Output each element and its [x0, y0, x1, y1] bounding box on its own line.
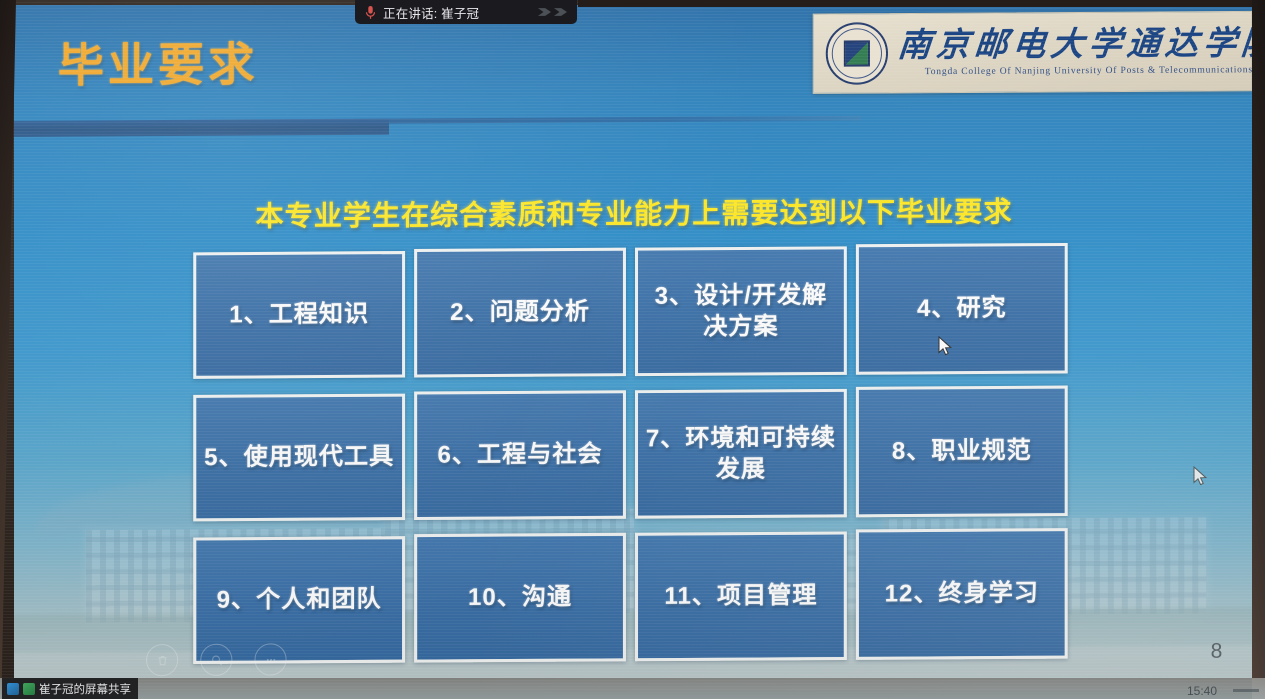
zoom-active-speaker-bar[interactable]: 正在讲话: 崔子冠	[355, 0, 577, 24]
slide-overlay-toolbar	[146, 643, 287, 676]
title-rule-thick	[14, 119, 389, 137]
school-seal-icon	[826, 22, 888, 85]
taskbar-clock[interactable]: 15:40	[1187, 684, 1217, 698]
requirement-label: 9、个人和团队	[210, 584, 389, 617]
requirement-box-11: 11、项目管理	[635, 531, 847, 661]
requirement-label: 7、环境和可持续发展	[638, 422, 844, 486]
slide-subtitle: 本专业学生在综合素质和专业能力上需要达到以下毕业要求	[14, 189, 1254, 237]
title-rule-thin	[389, 116, 861, 124]
share-icon	[23, 683, 35, 695]
monitor-bezel-right	[1252, 0, 1265, 699]
monitor-bezel-top	[578, 0, 1265, 7]
app-icon-zoom	[7, 683, 19, 695]
photographed-screen: 毕业要求 南京邮电大学通达学院 Tongda College Of Nanjin…	[0, 0, 1265, 699]
slide-page-number: 8	[1211, 640, 1223, 664]
requirement-box-12: 12、终身学习	[856, 528, 1068, 660]
requirement-label: 8、职业规范	[885, 435, 1039, 468]
requirement-box-10: 10、沟通	[414, 533, 626, 663]
monitor-bezel-bottom	[0, 690, 1265, 699]
windows-taskbar: 崔子冠的屏幕共享 15:40	[0, 677, 1265, 699]
slide-title: 毕业要求	[58, 40, 259, 90]
requirement-label: 1、工程知识	[222, 299, 376, 332]
requirement-box-5: 5、使用现代工具	[193, 394, 405, 522]
requirement-box-7: 7、环境和可持续发展	[635, 389, 847, 519]
requirement-label: 2、问题分析	[443, 296, 597, 329]
presentation-slide: 毕业要求 南京邮电大学通达学院 Tongda College Of Nanjin…	[14, 5, 1254, 678]
requirement-box-3: 3、设计/开发解决方案	[635, 246, 847, 376]
microphone-icon	[365, 5, 376, 20]
requirement-label: 6、工程与社会	[431, 439, 610, 472]
requirement-label: 5、使用现代工具	[197, 441, 401, 474]
requirement-box-4: 4、研究	[856, 243, 1068, 375]
taskbar-item-screen-share[interactable]: 崔子冠的屏幕共享	[2, 678, 138, 699]
requirement-label: 11、项目管理	[657, 580, 824, 613]
requirement-label: 3、设计/开发解决方案	[638, 279, 844, 343]
show-desktop-button[interactable]	[1233, 689, 1259, 692]
requirement-label: 4、研究	[910, 293, 1014, 325]
more-options-icon[interactable]	[254, 643, 286, 675]
taskbar-item-label: 崔子冠的屏幕共享	[39, 681, 131, 697]
active-speaker-label: 正在讲话: 崔子冠	[383, 3, 479, 22]
requirements-grid: 1、工程知识 2、问题分析 3、设计/开发解决方案 4、研究 5、使用现代工具 …	[193, 245, 1077, 662]
school-logo: 南京邮电大学通达学院 Tongda College Of Nanjing Uni…	[813, 11, 1253, 94]
requirement-label: 12、终身学习	[878, 578, 1046, 611]
chevrons-icon[interactable]	[538, 6, 567, 19]
trash-icon[interactable]	[146, 644, 178, 676]
requirement-box-6: 6、工程与社会	[414, 390, 626, 520]
school-name-english: Tongda College Of Nanjing University Of …	[925, 66, 1253, 78]
requirement-box-2: 2、问题分析	[414, 248, 626, 378]
school-name-chinese: 南京邮电大学通达学院	[897, 26, 1254, 61]
requirement-box-1: 1、工程知识	[193, 251, 405, 379]
requirement-label: 10、沟通	[461, 581, 579, 614]
requirement-box-8: 8、职业规范	[856, 386, 1068, 518]
search-icon[interactable]	[200, 644, 232, 676]
